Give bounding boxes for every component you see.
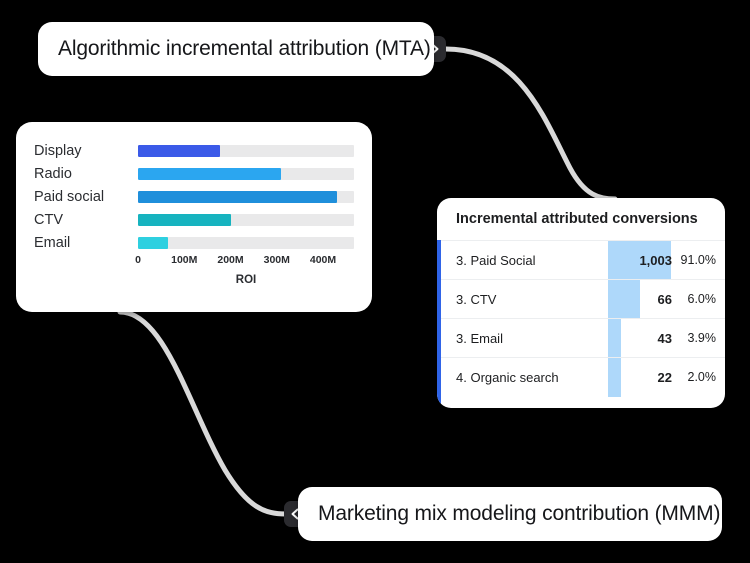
row-value: 1,003 bbox=[639, 253, 672, 268]
chart-track bbox=[138, 145, 354, 157]
connector-chart-to-mmm bbox=[120, 312, 286, 514]
chart-row: Paid social bbox=[34, 186, 354, 208]
row-label: 3. Paid Social bbox=[437, 253, 536, 268]
row-value-bar bbox=[608, 358, 621, 397]
table-accent-bar bbox=[437, 240, 441, 408]
chart-row: Radio bbox=[34, 163, 354, 185]
chart-row: CTV bbox=[34, 209, 354, 231]
row-value: 43 bbox=[658, 331, 672, 346]
node-mta-label: Algorithmic incremental attribution (MTA… bbox=[58, 37, 431, 61]
chart-bar bbox=[138, 191, 337, 203]
row-value-bar bbox=[608, 280, 640, 319]
chart-bar bbox=[138, 145, 220, 157]
row-label: 3. CTV bbox=[437, 292, 496, 307]
row-percent: 91.0% bbox=[681, 253, 716, 267]
chart-category-label: CTV bbox=[34, 212, 138, 228]
diagram-canvas: Algorithmic incremental attribution (MTA… bbox=[0, 0, 750, 563]
table-row[interactable]: 3. Paid Social 1,003 91.0% bbox=[437, 240, 725, 279]
axis-tick-label: 400M bbox=[310, 254, 336, 266]
chart-track bbox=[138, 191, 354, 203]
chart-category-label: Radio bbox=[34, 166, 138, 182]
row-value: 22 bbox=[658, 370, 672, 385]
table-row[interactable]: 3. Email 43 3.9% bbox=[437, 318, 725, 357]
node-mmm-label: Marketing mix modeling contribution (MMM… bbox=[318, 502, 720, 526]
chart-x-axis: 0100M200M300M400M bbox=[138, 254, 354, 270]
row-label: 3. Email bbox=[437, 331, 503, 346]
axis-tick-label: 200M bbox=[217, 254, 243, 266]
axis-tick-label: 100M bbox=[171, 254, 197, 266]
chart-category-label: Email bbox=[34, 235, 138, 251]
table-body: 3. Paid Social 1,003 91.0% 3. CTV 66 6.0… bbox=[437, 240, 725, 408]
chart-axis-title: ROI bbox=[138, 274, 354, 286]
connector-mta-to-table bbox=[446, 49, 615, 199]
row-percent: 6.0% bbox=[688, 292, 717, 306]
row-value-bar bbox=[608, 319, 621, 358]
chart-card: Display Radio Paid social CTV bbox=[16, 122, 372, 312]
bar-chart: Display Radio Paid social CTV bbox=[34, 140, 354, 255]
table-title: Incremental attributed conversions bbox=[437, 198, 725, 240]
chart-category-label: Paid social bbox=[34, 189, 138, 205]
chart-category-label: Display bbox=[34, 143, 138, 159]
chart-bar bbox=[138, 168, 281, 180]
node-mmm[interactable]: Marketing mix modeling contribution (MMM… bbox=[298, 487, 722, 541]
chart-track bbox=[138, 237, 354, 249]
row-percent: 2.0% bbox=[688, 370, 717, 384]
chart-track bbox=[138, 214, 354, 226]
row-value: 66 bbox=[658, 292, 672, 307]
axis-tick-label: 300M bbox=[264, 254, 290, 266]
node-mta[interactable]: Algorithmic incremental attribution (MTA… bbox=[38, 22, 434, 76]
row-percent: 3.9% bbox=[688, 331, 717, 345]
chart-row: Display bbox=[34, 140, 354, 162]
chart-row: Email bbox=[34, 232, 354, 254]
chart-bar bbox=[138, 237, 168, 249]
table-row[interactable]: 3. CTV 66 6.0% bbox=[437, 279, 725, 318]
chart-bar bbox=[138, 214, 231, 226]
axis-tick-label: 0 bbox=[135, 254, 141, 266]
table-row[interactable]: 4. Organic search 22 2.0% bbox=[437, 357, 725, 396]
chart-track bbox=[138, 168, 354, 180]
row-label: 4. Organic search bbox=[437, 370, 559, 385]
conversions-table-card: Incremental attributed conversions 3. Pa… bbox=[437, 198, 725, 408]
